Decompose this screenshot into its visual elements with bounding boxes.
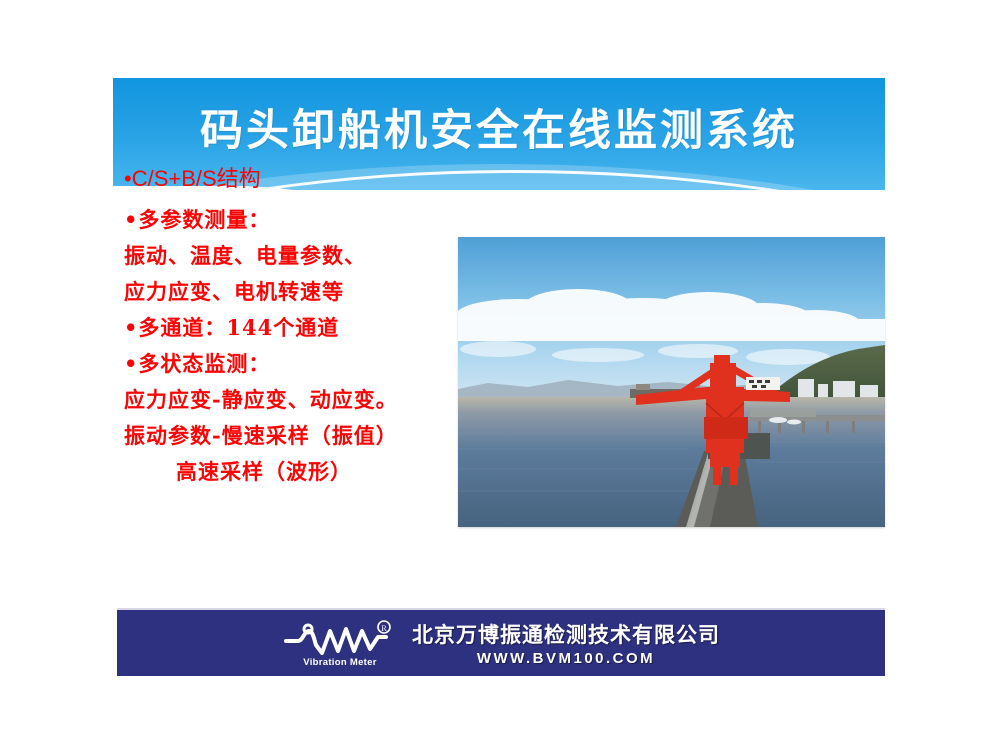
company-url: WWW.BVM100.COM [477, 650, 655, 667]
list-item: 振动、温度、电量参数、 [124, 245, 474, 266]
page-title: 码头卸船机安全在线监测系统 [113, 96, 885, 158]
vibration-meter-logo: R Vibration Meter [282, 619, 398, 667]
footer-bar: R Vibration Meter 北京万博振通检测技术有限公司 WWW.BVM… [117, 608, 885, 676]
list-item: •多通道：144个通道 [124, 317, 474, 338]
svg-text:R: R [381, 624, 387, 633]
list-item: •多状态监测： [124, 353, 474, 374]
list-item: 振动参数-慢速采样（振值） [124, 425, 474, 446]
list-item: •C/S+B/S结构 [124, 168, 474, 190]
list-item: 应力应变、电机转速等 [124, 281, 474, 302]
list-item: 高速采样（波形） [124, 461, 474, 482]
list-item: 应力应变-静应变、动应变。 [124, 389, 474, 410]
list-item: •多参数测量： [124, 209, 474, 230]
wave-logo-icon: R [282, 619, 398, 659]
bullet-list: •C/S+B/S结构 •多参数测量： 振动、温度、电量参数、 应力应变、电机转速… [124, 168, 474, 497]
company-name: 北京万博振通检测技术有限公司 [412, 619, 720, 649]
photo-illustration [458, 237, 885, 527]
port-crane-photo [458, 237, 885, 527]
logo-caption: Vibration Meter [288, 657, 392, 668]
presentation-slide: 码头卸船机安全在线监测系统 •C/S+B/S结构 •多参数测量： 振动、温度、电… [0, 0, 1000, 750]
